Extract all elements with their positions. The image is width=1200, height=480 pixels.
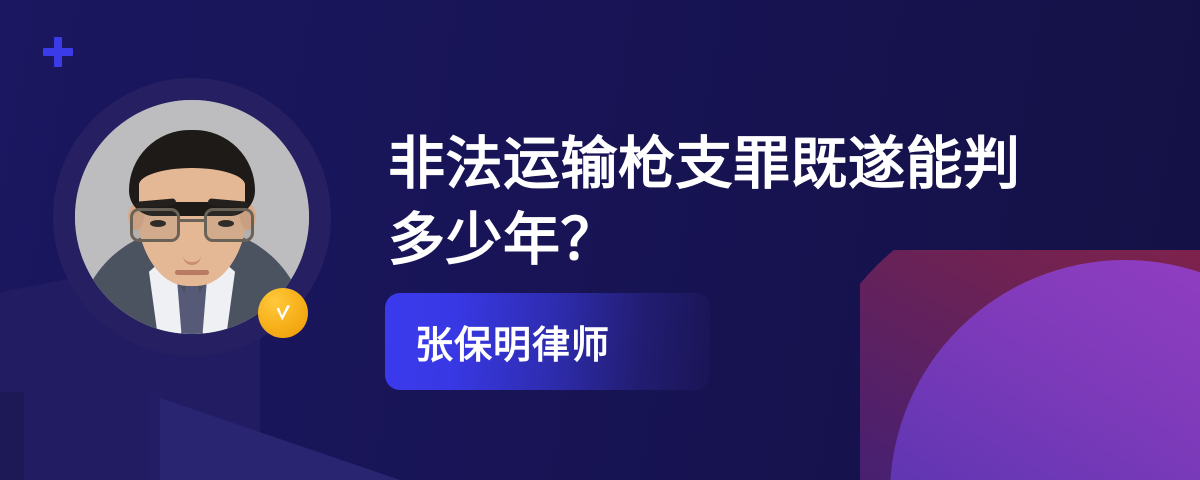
lawyer-question-banner: 非法运输枪支罪既遂能判 多少年？ 张保明律师 bbox=[0, 0, 1200, 480]
page-title: 非法运输枪支罪既遂能判 多少年？ bbox=[388, 126, 1128, 278]
corner-blob-group bbox=[860, 250, 1200, 480]
author-name-button[interactable]: 张保明律师 bbox=[385, 293, 710, 390]
verified-check-icon bbox=[258, 288, 308, 338]
avatar[interactable] bbox=[53, 78, 331, 356]
plus-icon bbox=[43, 37, 73, 67]
headline-block: 非法运输枪支罪既遂能判 多少年？ bbox=[388, 126, 1128, 278]
background-facet-edge bbox=[0, 392, 24, 480]
